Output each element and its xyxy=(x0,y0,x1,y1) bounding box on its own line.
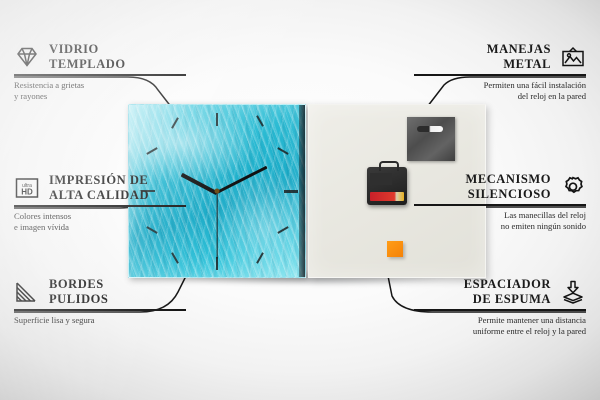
callout-rule xyxy=(414,309,586,311)
gear-icon xyxy=(560,175,586,199)
callout-description: Resistencia a grietas y rayones xyxy=(14,80,186,102)
callout-description: Superficie lisa y segura xyxy=(14,315,186,326)
hanger-keyhole-slot xyxy=(417,126,443,132)
callout-description: Colores intensos e imagen vívida xyxy=(14,211,186,233)
second-hand xyxy=(216,192,217,258)
callout-rule xyxy=(14,205,186,207)
callout-rule xyxy=(14,74,186,76)
diamond-icon xyxy=(14,45,40,69)
clock-center-hub xyxy=(215,189,220,194)
foam-spacer xyxy=(387,241,403,257)
callout-description: Permiten una fácil instalación del reloj… xyxy=(414,80,586,102)
mechanism-detail xyxy=(370,173,392,185)
callout-vidrio-templado: VIDRIO TEMPLADO Resistencia a grietas y … xyxy=(14,42,186,102)
callout-title: BORDES PULIDOS xyxy=(49,277,108,306)
callout-rule xyxy=(14,309,186,311)
callout-title: ESPACIADOR DE ESPUMA xyxy=(464,277,551,306)
callout-description: Permite mantener una distancia uniforme … xyxy=(414,315,586,337)
callout-manejas-metal: MANEJAS METAL Permiten una fácil instala… xyxy=(414,42,586,102)
arrow-onto-layers-icon xyxy=(560,280,586,304)
minute-hand xyxy=(216,166,267,194)
mechanism-hanger-tab xyxy=(379,161,399,171)
callout-mecanismo-silencioso: MECANISMO SILENCIOSO Las manecillas del … xyxy=(414,172,586,232)
callout-title: MANEJAS METAL xyxy=(487,42,551,71)
hatched-corner-icon xyxy=(14,280,40,304)
hour-hand xyxy=(181,172,218,195)
infographic-canvas: VIDRIO TEMPLADO Resistencia a grietas y … xyxy=(0,0,600,400)
callout-title: IMPRESIÓN DE ALTA CALIDAD xyxy=(49,173,149,202)
callout-title: VIDRIO TEMPLADO xyxy=(49,42,126,71)
callout-impresion-alta-calidad: ultra HD IMPRESIÓN DE ALTA CALIDAD Color… xyxy=(14,173,186,233)
quartz-mechanism-box xyxy=(367,167,407,205)
metal-hanger-plate xyxy=(407,117,455,161)
svg-text:HD: HD xyxy=(21,187,33,196)
callout-title: MECANISMO SILENCIOSO xyxy=(465,172,551,201)
battery xyxy=(370,192,404,201)
callout-bordes-pulidos: BORDES PULIDOS Superficie lisa y segura xyxy=(14,277,186,326)
callout-espaciador-espuma: ESPACIADOR DE ESPUMA Permite mantener un… xyxy=(414,277,586,337)
callout-description: Las manecillas del reloj no emiten ningú… xyxy=(414,210,586,232)
callout-rule xyxy=(414,204,586,206)
picture-hanger-icon xyxy=(560,45,586,69)
ultra-hd-icon: ultra HD xyxy=(14,176,40,200)
callout-rule xyxy=(414,74,586,76)
